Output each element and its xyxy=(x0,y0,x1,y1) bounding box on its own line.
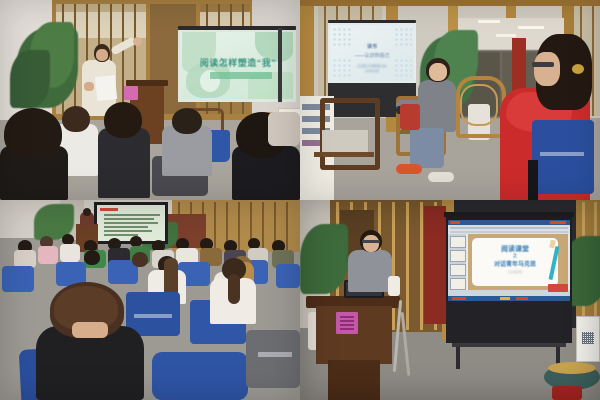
slide-headline-top-right: 读书 xyxy=(334,43,410,50)
slide-headline-top-left: 阅读怎样塑造“我” xyxy=(186,56,290,69)
podium-placard-top-left xyxy=(124,86,138,100)
panel-top-right: 读书 ——认识你自己 北京理工大学图书馆 主办 2024年10月 xyxy=(300,0,600,200)
panel-bottom-right: 阅读课堂 之 对话青年马克思 2024年6月 xyxy=(300,200,600,400)
photo-collage: 阅读怎样塑造“我” xyxy=(0,0,600,400)
slide-date-bottom-right: 2024年6月 xyxy=(472,270,558,274)
slide-date-top-right: 2024年10月 xyxy=(334,69,410,73)
slide-subtitle-top-right: ——认识你自己 xyxy=(334,52,410,59)
panel-bottom-left xyxy=(0,200,300,400)
slide-byline-top-right: 北京理工大学图书馆 主办 xyxy=(334,64,410,68)
slide-subtitle-bottom-right: 对话青年马克思 xyxy=(472,259,558,268)
panel-top-left: 阅读怎样塑造“我” xyxy=(0,0,300,200)
